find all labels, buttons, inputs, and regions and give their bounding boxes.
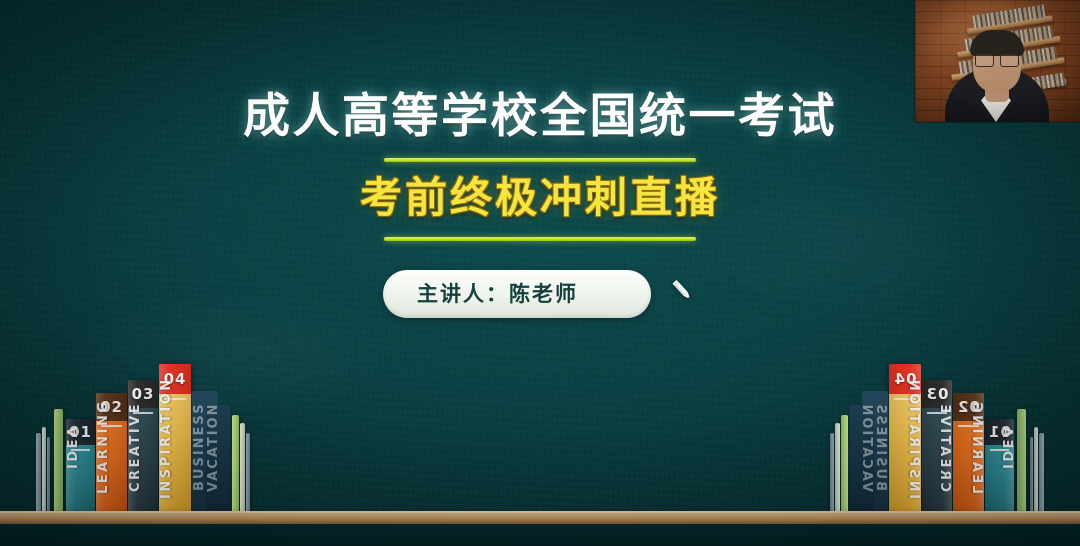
webcam-vignette [915,0,1080,122]
shelf-board [0,511,1080,524]
filler-book [1034,427,1038,511]
book-02: 02 LEARNING [953,393,984,511]
book-title: LEARNING [953,395,984,499]
divider-rule-bottom [384,237,696,241]
book-04: 04 INSPIRATION [159,364,191,511]
book-title: INSPIRATION [159,395,191,499]
sub-title: 考前终极冲刺直播 [0,176,1080,220]
filler-book [54,409,63,511]
book-02: 02 LEARNING [96,393,127,511]
book-03: 03 CREATIVE [128,380,158,511]
speaker-row: 主讲人：陈老师 [0,270,1080,318]
live-stream-slide: 成人高等学校全国统一考试 考前终极冲刺直播 主讲人：陈老师 [0,0,1080,546]
book-01: 01 IDEA [985,419,1014,511]
filler-book [240,423,245,511]
book-01: 01 IDEA [66,419,95,511]
filler-book [830,433,834,511]
book-title: IDEA [985,419,1014,499]
book-title: INSPIRATION [889,395,921,499]
shelf-underside [0,524,1080,546]
filler-book [36,433,41,511]
book-title: CREATIVE [128,395,158,499]
book-title: VACATION [850,405,874,495]
book-title: LEARNING [96,395,127,499]
filler-book [1039,433,1044,511]
book-vacation: VACATION [850,405,874,511]
book-title: IDEA [66,419,95,499]
divider-rule-top [384,158,696,162]
filler-book [841,415,848,511]
filler-book [232,415,239,511]
book-vacation: VACATION [206,405,230,511]
book-04: 04 INSPIRATION [889,364,921,511]
filler-book [47,437,50,511]
filler-book [246,433,250,511]
filler-book [42,427,46,511]
presenter-webcam[interactable] [915,0,1080,122]
book-title: CREATIVE [922,395,952,499]
filler-book [1017,409,1026,511]
pencil-cursor-icon [667,275,697,305]
book-title: VACATION [206,405,230,495]
filler-book [1030,437,1033,511]
book-03: 03 CREATIVE [922,380,952,511]
speaker-badge: 主讲人：陈老师 [383,270,651,318]
filler-book [835,423,840,511]
